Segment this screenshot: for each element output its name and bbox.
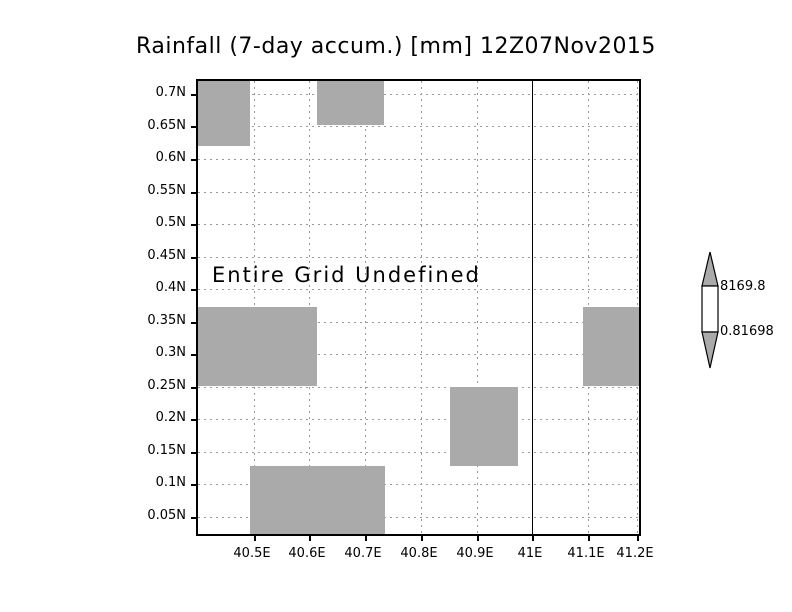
y-axis-label-3: 0.55N: [106, 183, 186, 198]
y-axis-label-9: 0.25N: [106, 378, 186, 393]
colorbar-swatch-icon: [696, 250, 736, 370]
y-axis-label-0: 0.7N: [106, 85, 186, 100]
tick-y-0.4: [191, 289, 198, 291]
undefined-block-mid-left: [198, 307, 317, 386]
gridline-x-40.8: [421, 81, 422, 534]
undefined-block-top-left: [198, 81, 250, 146]
gridline-y-0.6: [198, 159, 639, 160]
undefined-block-top-mid: [317, 81, 384, 125]
x-axis-label-7: 41.2E: [595, 546, 675, 561]
tick-x-40.7: [365, 534, 367, 541]
y-axis-label-11: 0.15N: [106, 443, 186, 458]
gridline-y-0.25: [198, 387, 639, 388]
tick-y-0.25: [191, 387, 198, 389]
meridian-41E-overlay: [532, 81, 533, 534]
page-title: Rainfall (7-day accum.) [mm] 12Z07Nov201…: [0, 34, 792, 59]
y-axis-label-13: 0.05N: [106, 508, 186, 523]
tick-x-41.2: [637, 534, 639, 541]
tick-x-40.5: [254, 534, 256, 541]
tick-y-0.1: [191, 484, 198, 486]
undefined-block-center: [450, 387, 518, 466]
gridline-y-0.55: [198, 192, 639, 193]
gridline-y-0.4: [198, 289, 639, 290]
tick-y-0.45: [191, 257, 198, 259]
gridline-y-0.65: [198, 126, 639, 127]
tick-y-0.6: [191, 159, 198, 161]
tick-x-40.6: [309, 534, 311, 541]
gridline-y-0.5: [198, 224, 639, 225]
tick-y-0.2: [191, 419, 198, 421]
y-axis-label-4: 0.5N: [106, 215, 186, 230]
tick-x-40.8: [421, 534, 423, 541]
undefined-block-bottom: [250, 466, 385, 534]
tick-y-0.7: [191, 94, 198, 96]
tick-y-0.65: [191, 126, 198, 128]
gridline-x-40.9: [477, 81, 478, 534]
colorbar-min-label: 0.81698: [720, 324, 774, 339]
tick-y-0.35: [191, 322, 198, 324]
colorbar: 8169.8 0.81698: [696, 250, 736, 370]
tick-y-0.15: [191, 452, 198, 454]
undefined-grid-message: Entire Grid Undefined: [212, 263, 481, 287]
y-axis-label-5: 0.45N: [106, 248, 186, 263]
y-axis-label-2: 0.6N: [106, 150, 186, 165]
y-axis-label-1: 0.65N: [106, 118, 186, 133]
y-axis-label-7: 0.35N: [106, 313, 186, 328]
y-axis-label-6: 0.4N: [106, 280, 186, 295]
undefined-block-mid-right: [583, 307, 639, 386]
plot-canvas: Entire Grid Undefined: [198, 81, 639, 534]
y-axis-label-8: 0.3N: [106, 345, 186, 360]
gridline-y-0.2: [198, 419, 639, 420]
y-axis-label-10: 0.2N: [106, 410, 186, 425]
y-axis-label-12: 0.1N: [106, 475, 186, 490]
tick-x-40.9: [477, 534, 479, 541]
tick-y-0.55: [191, 192, 198, 194]
gridline-y-0.45: [198, 257, 639, 258]
plot-frame: Entire Grid Undefined: [196, 79, 641, 536]
tick-y-0.3: [191, 354, 198, 356]
tick-x-41: [532, 534, 534, 541]
tick-y-0.5: [191, 224, 198, 226]
gridline-y-0.15: [198, 452, 639, 453]
tick-x-41.1: [588, 534, 590, 541]
tick-y-0.05: [191, 517, 198, 519]
gridline-y-0.7: [198, 94, 639, 95]
colorbar-max-label: 8169.8: [720, 279, 766, 294]
